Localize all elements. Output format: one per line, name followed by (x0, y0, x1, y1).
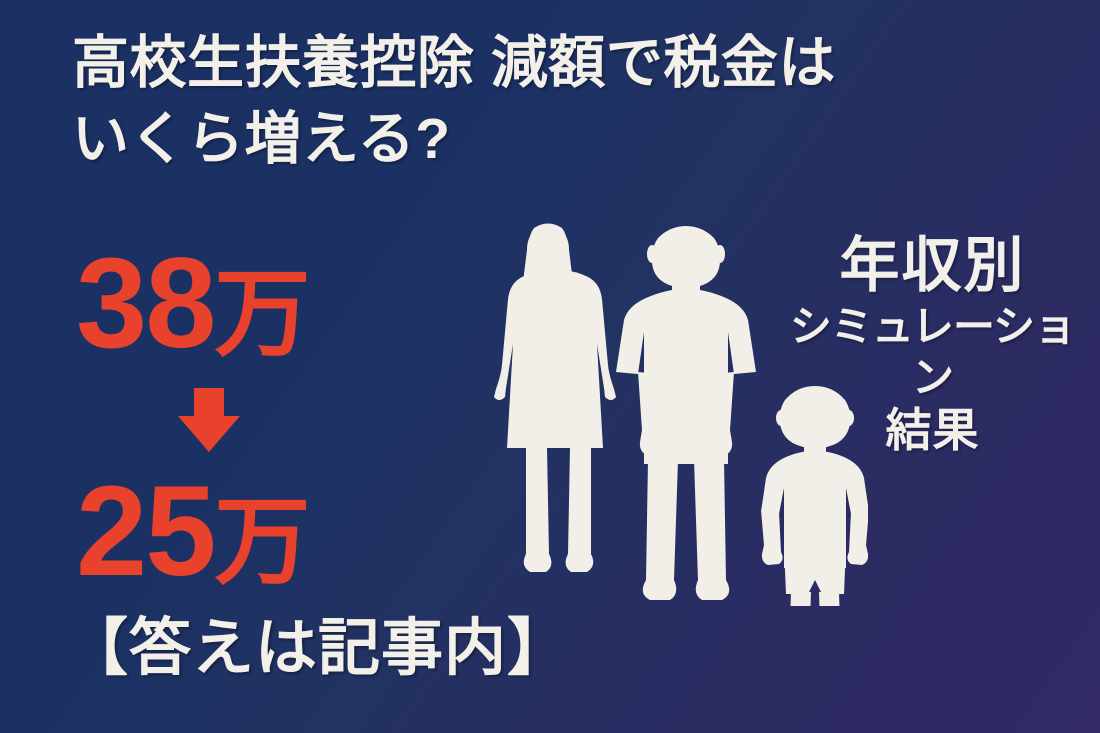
arrow-shaft (194, 388, 224, 418)
arrow-head (178, 416, 240, 452)
family-illustration (488, 216, 868, 606)
arrow-container (74, 376, 394, 462)
mother-silhouette (494, 224, 616, 573)
amount-after-unit: 万 (214, 489, 310, 596)
thumbnail-canvas: 高校生扶養控除 減額で税金は いくら増える? 38万 25万 【答えは記事内】 … (0, 0, 1100, 733)
amount-before-number: 38 (76, 232, 214, 375)
amount-change-block: 38万 25万 (74, 240, 394, 596)
child-silhouette (761, 386, 868, 606)
page-title: 高校生扶養控除 減額で税金は いくら増える? (72, 26, 1012, 178)
down-arrow-icon (178, 388, 240, 452)
amount-before-unit: 万 (214, 261, 310, 368)
amount-after-number: 25 (76, 460, 214, 603)
amount-before: 38万 (76, 240, 394, 368)
answer-note: 【答えは記事内】 (66, 618, 570, 680)
father-silhouette (616, 226, 756, 600)
amount-after: 25万 (76, 468, 394, 596)
